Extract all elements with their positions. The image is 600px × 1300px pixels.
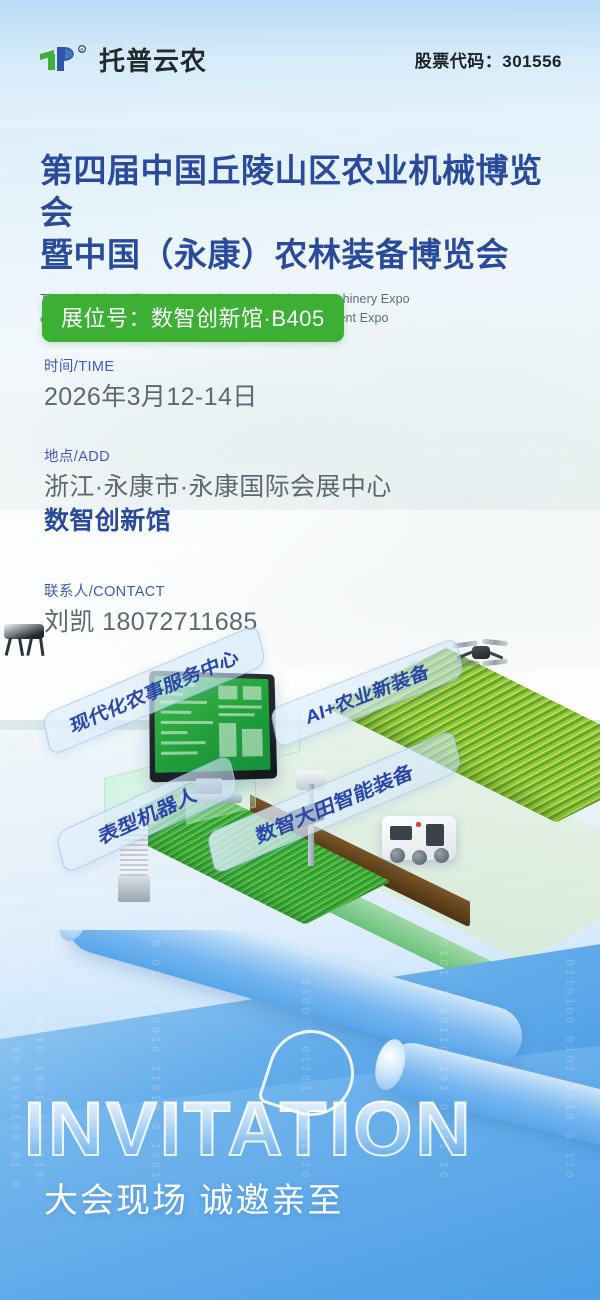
topcloud-logo-icon: R <box>38 44 90 74</box>
poster-header: R 托普云农 股票代码：301556 <box>38 38 562 80</box>
address-label: 地点/ADD <box>44 445 570 466</box>
insect-trap-lamp-base <box>118 876 150 902</box>
brand-lockup: R 托普云农 <box>38 41 207 78</box>
time-label: 时间/TIME <box>44 355 570 376</box>
booth-number-badge: 展位号：数智创新馆·B405 <box>42 294 344 342</box>
brand-name: 托普云农 <box>99 41 207 78</box>
invitation-poster: R 托普云农 股票代码：301556 第四届中国丘陵山区农业机械博览会 暨中国（… <box>0 0 600 1300</box>
info-block-address: 地点/ADD 浙江·永康市·永康国际会展中心 数智创新馆 <box>44 445 570 536</box>
invitation-wordmark: INVITATION <box>24 1092 473 1168</box>
stock-code: 股票代码：301556 <box>415 47 562 72</box>
field-rover-robot <box>382 816 456 860</box>
footer-slogan: 大会现场 诚邀亲至 <box>44 1173 343 1222</box>
time-value: 2026年3月12-14日 <box>44 382 570 412</box>
robot-dog-body <box>4 624 44 639</box>
info-block-time: 时间/TIME 2026年3月12-14日 <box>44 355 570 412</box>
address-venue-hall: 数智创新馆 <box>44 506 570 536</box>
scroll-roll-cap <box>54 930 95 944</box>
drone-body <box>472 646 490 659</box>
contact-label: 联系人/CONTACT <box>44 580 570 601</box>
title-cn-line-2: 暨中国（永康）农林装备博览会 <box>40 234 570 276</box>
address-value: 浙江·永康市·永康国际会展中心 <box>44 472 570 502</box>
robot-dog <box>0 620 50 654</box>
title-cn-line-1: 第四届中国丘陵山区农业机械博览会 <box>40 150 570 234</box>
